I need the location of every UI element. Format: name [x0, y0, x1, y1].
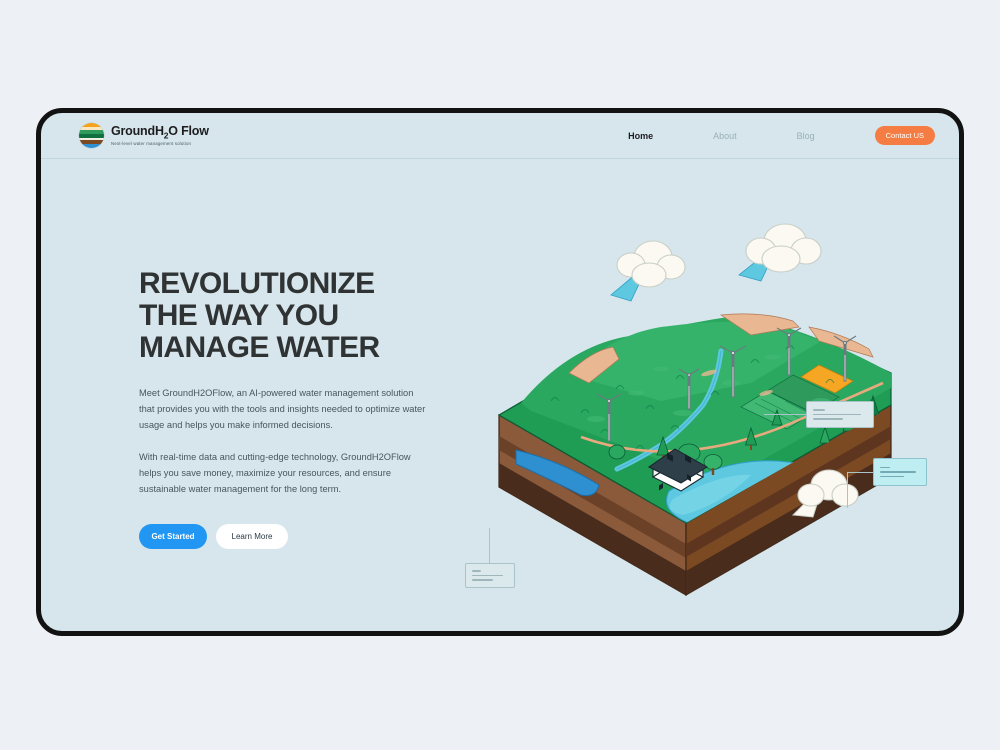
callout-line — [472, 579, 493, 581]
get-started-button[interactable]: Get Started — [139, 524, 207, 549]
callout-leader-right — [847, 472, 873, 473]
hero-paragraph-2: With real-time data and cutting-edge tec… — [139, 450, 429, 498]
callout-line — [813, 414, 861, 416]
callout-line — [472, 575, 503, 577]
callout-line — [880, 476, 904, 478]
slider-control[interactable]: •• — [499, 633, 585, 636]
headline-line-1: REVOLUTIONIZE — [139, 267, 375, 300]
brand-logo[interactable]: GroundH2O Flow Next-level water manageme… — [79, 123, 209, 148]
callout-box-top[interactable] — [806, 401, 874, 428]
callout-line — [472, 570, 481, 572]
callout-box-left[interactable] — [465, 563, 515, 588]
headline-line-2: THE WAY YOU — [139, 299, 339, 332]
nav-links: Home About Blog Contact US — [628, 126, 935, 145]
browser-window-frame: GroundH2O Flow Next-level water manageme… — [36, 108, 964, 636]
layered-globe-logo-icon — [79, 123, 104, 148]
callout-leader-left — [489, 528, 490, 563]
drag-handle-icon[interactable]: •• — [499, 633, 518, 636]
callout-line — [813, 418, 843, 420]
callout-line — [813, 409, 825, 411]
brand-name: GroundH2O Flow — [111, 125, 209, 140]
hero-paragraph-1: Meet GroundH2OFlow, an AI-powered water … — [139, 386, 429, 434]
callout-line — [880, 471, 916, 473]
callout-line — [880, 467, 890, 469]
hero-section: REVOLUTIONIZE THE WAY YOU MANAGE WATER M… — [139, 268, 429, 549]
contact-us-button[interactable]: Contact US — [875, 126, 935, 145]
callout-leader-right-v — [847, 472, 848, 508]
nav-item-about[interactable]: About — [713, 131, 737, 141]
nav-item-blog[interactable]: Blog — [797, 131, 815, 141]
cta-button-row: Get Started Learn More — [139, 524, 429, 549]
top-navigation-bar: GroundH2O Flow Next-level water manageme… — [41, 113, 959, 159]
brand-tagline: Next-level water management solution — [111, 142, 209, 146]
callout-leader-top — [764, 414, 806, 415]
callout-box-right[interactable] — [873, 458, 927, 486]
learn-more-button[interactable]: Learn More — [216, 524, 288, 549]
nav-item-home[interactable]: Home — [628, 131, 653, 141]
headline-line-3: MANAGE WATER — [139, 331, 380, 364]
page-title: REVOLUTIONIZE THE WAY YOU MANAGE WATER — [139, 268, 429, 364]
